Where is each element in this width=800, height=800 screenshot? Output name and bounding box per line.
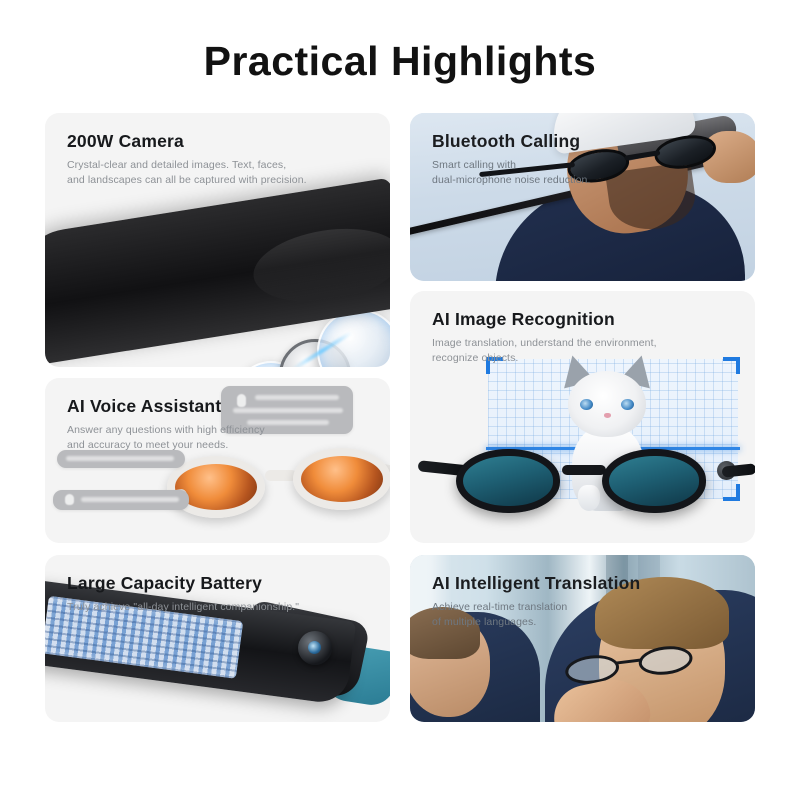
page-title: Practical Highlights [0, 38, 800, 85]
feature-card-bluetooth-calling[interactable]: Bluetooth Calling Smart calling with dua… [410, 113, 755, 281]
card-title-ai-image-recognition: AI Image Recognition [432, 309, 615, 330]
card-title-camera: 200W Camera [67, 131, 184, 152]
feature-card-ai-voice-assistant[interactable]: AI Voice Assistant Answer any questions … [45, 378, 390, 543]
product-feature-page: Practical Highlights 200W Camera Crystal… [0, 0, 800, 800]
feature-card-large-capacity-battery[interactable]: Large Capacity Battery Truly achieve "al… [45, 555, 390, 722]
card-title-bluetooth-calling: Bluetooth Calling [432, 131, 580, 152]
card-description-ai-intelligent-translation: Achieve real-time translation of multipl… [432, 600, 567, 630]
feature-card-ai-image-recognition[interactable]: AI Image Recognition Image translation, … [410, 291, 755, 543]
card-description-large-capacity-battery: Truly achieve "all-day intelligent compa… [67, 600, 299, 615]
card-description-ai-image-recognition: Image translation, understand the enviro… [432, 336, 657, 366]
card-title-large-capacity-battery: Large Capacity Battery [67, 573, 262, 594]
detection-corner-top-right [723, 357, 740, 374]
card-description-camera: Crystal-clear and detailed images. Text,… [67, 158, 307, 188]
feature-card-ai-intelligent-translation[interactable]: AI Intelligent Translation Achieve real-… [410, 555, 755, 722]
card-description-bluetooth-calling: Smart calling with dual-microphone noise… [432, 158, 590, 188]
glasses-hinge-camera [298, 631, 332, 665]
card-title-ai-voice-assistant: AI Voice Assistant [67, 396, 221, 417]
card-title-ai-intelligent-translation: AI Intelligent Translation [432, 573, 640, 594]
voice-bubble-prompt [53, 490, 189, 510]
card-description-ai-voice-assistant: Answer any questions with high efficienc… [67, 423, 265, 453]
feature-card-camera[interactable]: 200W Camera Crystal-clear and detailed i… [45, 113, 390, 367]
smart-glasses-teal-illustration [426, 439, 742, 527]
